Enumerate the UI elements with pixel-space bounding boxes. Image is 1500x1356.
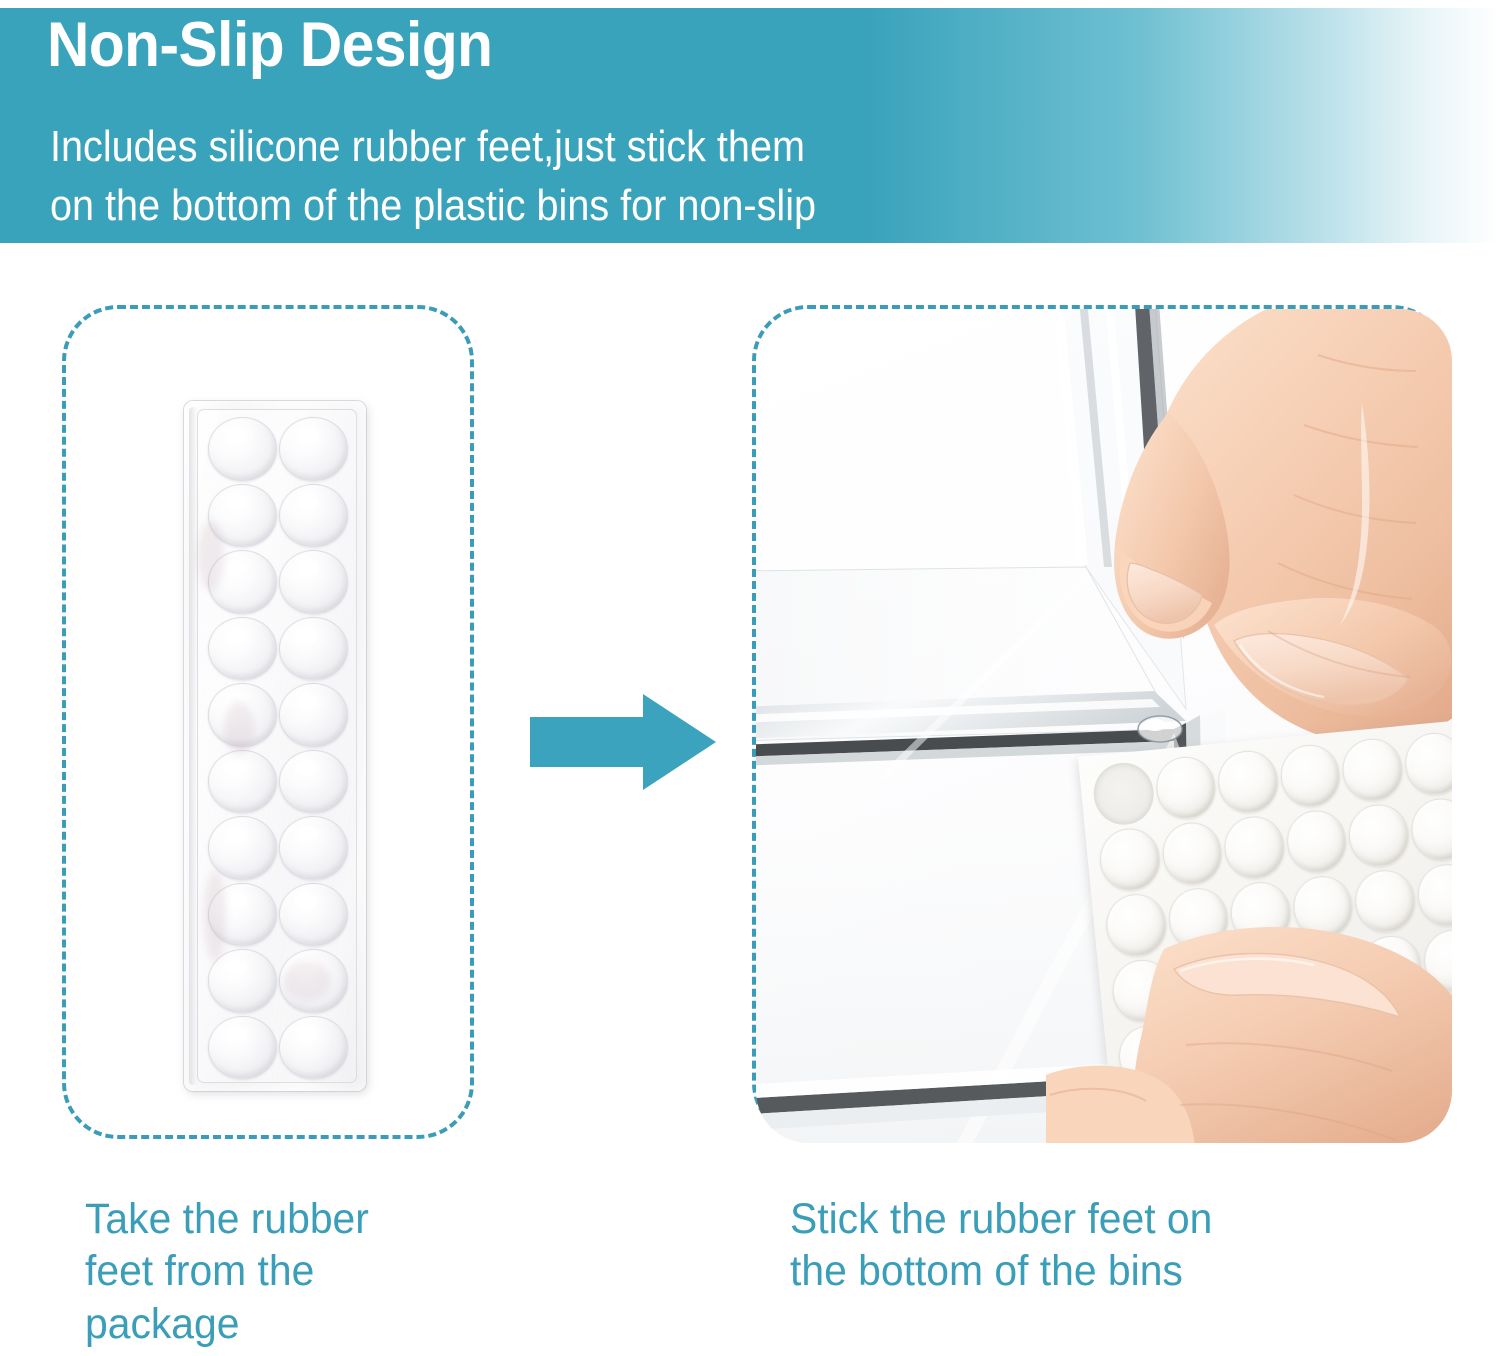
step-2-panel [752,305,1448,1139]
rubber-foot-dome [208,417,277,481]
page-title: Non-Slip Design [47,14,492,77]
rubber-foot-dome [279,417,348,481]
rubber-foot-dome [208,484,277,548]
rubber-foot-dome [279,816,348,880]
hand-holding-sheet-image [1046,779,1452,1143]
bin-application-scene [756,309,1452,1143]
rubber-foot-dome [279,484,348,548]
blister-rail [189,407,197,1085]
step-1-panel [62,305,474,1139]
rubber-foot-dome [279,550,348,614]
blister-pack-image [184,401,366,1091]
step-1-caption: Take the rubber feet from the package [85,1193,522,1350]
rubber-foot-dome [279,1016,348,1080]
page-subtitle: Includes silicone rubber feet,just stick… [50,118,816,235]
rubber-feet-grid [206,415,350,1081]
rubber-foot-dome [208,1016,277,1080]
rubber-foot-dome [208,550,277,614]
rubber-foot-dome [208,617,277,681]
infographic-page: Non-Slip Design Includes silicone rubber… [0,0,1500,1356]
rubber-foot-dome [279,750,348,814]
step-1-image-area [66,309,470,1135]
header-banner: Non-Slip Design Includes silicone rubber… [0,8,1500,243]
rubber-foot-dome [208,816,277,880]
step-2-caption: Stick the rubber feet on the bottom of t… [790,1193,1436,1298]
rubber-foot-dome [279,683,348,747]
rubber-foot-dome [279,883,348,947]
step-2-image-area [756,309,1444,1135]
rubber-foot-dome [208,750,277,814]
rubber-foot-dome [279,617,348,681]
flow-arrow-icon [530,694,716,790]
hand-placing-foot-image [1018,309,1452,765]
rubber-foot-dome [208,949,277,1013]
rubber-foot-dome [208,683,277,747]
rubber-foot-dome [208,883,277,947]
rubber-foot-dome [279,949,348,1013]
